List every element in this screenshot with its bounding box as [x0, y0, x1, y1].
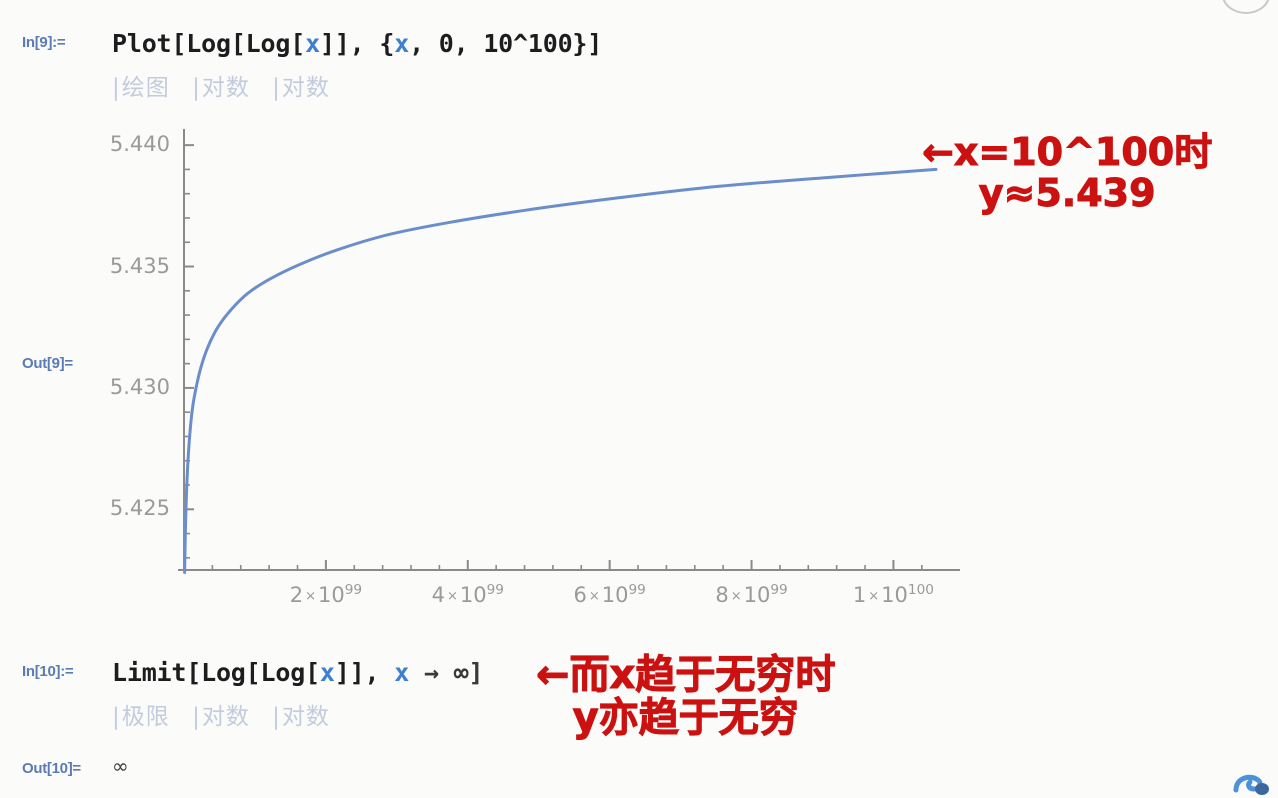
y-tick-label-3: 5.425 [95, 496, 170, 520]
code-prefix-limit: Limit[Log[Log[ [112, 658, 320, 687]
annotation-limit-line1: ←而x趋于无穷时 [536, 652, 835, 698]
x-tick-label-4: 1×10100 [845, 582, 941, 607]
out-label-10: Out[10]= [22, 760, 81, 777]
hint-row-plot: 绘图 对数 对数 [112, 68, 344, 102]
code-mid-limit: ]], [335, 658, 394, 687]
x-tick-label-0: 2×1099 [278, 582, 374, 607]
in-label-10: In[10]:= [22, 663, 73, 680]
corner-circle-artifact [1222, 0, 1270, 14]
x-tick-label-3: 8×1099 [704, 582, 800, 607]
plot-curve [185, 169, 936, 572]
plot-output-9: 2×10994×10996×10998×10991×101005.4405.43… [95, 110, 965, 610]
code-variable-x-2: x [394, 29, 409, 58]
annotation-x-value-line2: y≈5.439 [922, 173, 1212, 214]
code-line-limit[interactable]: Limit[Log[Log[x]], x → ∞] [112, 658, 483, 687]
code-variable-x-3: x [320, 658, 335, 687]
hint-row-limit: 极限 对数 对数 [112, 697, 344, 731]
code-line-plot[interactable]: Plot[Log[Log[x]], {x, 0, 10^100}] [112, 29, 602, 58]
brand-watermark-icon [1232, 770, 1278, 798]
code-variable-x: x [305, 29, 320, 58]
notebook-page: In[9]:= Plot[Log[Log[x]], {x, 0, 10^100}… [0, 0, 1278, 798]
code-variable-x-4: x [394, 658, 409, 687]
hint-log-4: 对数 [272, 704, 330, 730]
code-prefix: Plot[Log[Log[ [112, 29, 305, 58]
hint-log-1: 对数 [192, 75, 250, 101]
out-label-9: Out[9]= [22, 355, 73, 372]
code-suffix: , 0, 10^100}] [409, 29, 602, 58]
in-label-9: In[9]:= [22, 34, 65, 51]
code-suffix-limit: → ∞] [409, 658, 483, 687]
plot-svg [95, 110, 965, 610]
y-tick-label-1: 5.435 [95, 254, 170, 278]
hint-log-2: 对数 [272, 75, 330, 101]
annotation-x-value-line1: ←x=10^100时 [922, 130, 1212, 174]
annotation-limit: ←而x趋于无穷时 y亦趋于无穷 [536, 654, 835, 740]
hint-plot: 绘图 [112, 75, 170, 101]
out-value-10: ∞ [112, 754, 129, 778]
x-tick-label-1: 4×1099 [420, 582, 516, 607]
x-tick-label-2: 6×1099 [562, 582, 658, 607]
y-tick-label-2: 5.430 [95, 375, 170, 399]
hint-log-3: 对数 [192, 704, 250, 730]
hint-limit: 极限 [112, 704, 170, 730]
code-mid: ]], { [320, 29, 394, 58]
annotation-x-value: ←x=10^100时 y≈5.439 [922, 132, 1212, 214]
annotation-limit-line2: y亦趋于无穷 [536, 697, 835, 740]
y-tick-label-0: 5.440 [95, 132, 170, 156]
